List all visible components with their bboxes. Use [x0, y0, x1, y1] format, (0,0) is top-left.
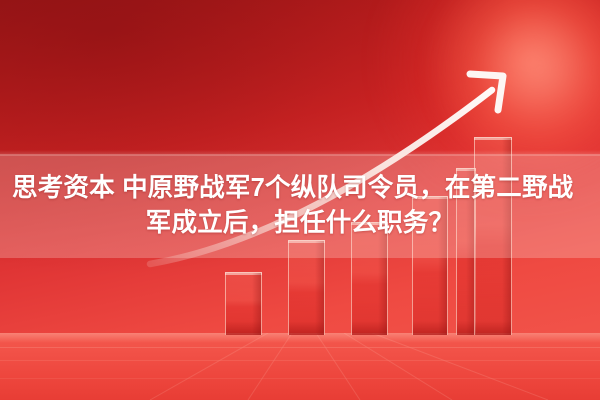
caption-block: 思考资本 中原野战军7个纵队司令员，在第二野战 军成立后，担任什么职务？ — [0, 158, 600, 254]
poster-canvas: 思考资本 中原野战军7个纵队司令员，在第二野战 军成立后，担任什么职务？ — [0, 0, 600, 400]
caption-line-2: 军成立后，担任什么职务？ — [146, 209, 454, 239]
caption-line-1: 思考资本 中原野战军7个纵队司令员，在第二野战 — [12, 174, 573, 204]
